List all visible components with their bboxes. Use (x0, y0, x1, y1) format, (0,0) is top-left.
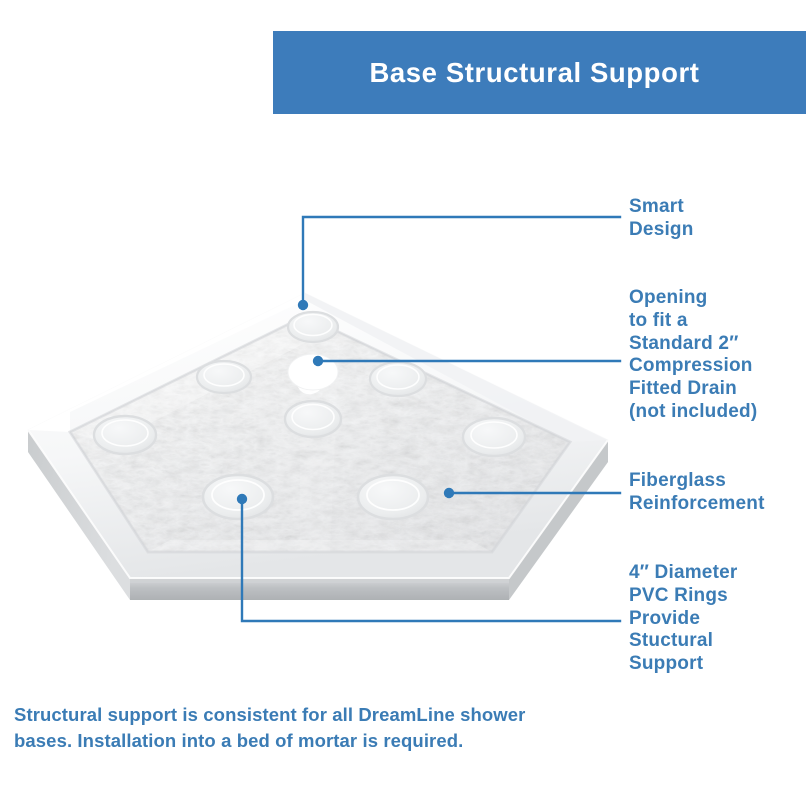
pvc-ring (370, 362, 426, 396)
pvc-ring-group (94, 312, 525, 519)
leader-dot-fiberglass (444, 488, 454, 498)
pvc-ring (94, 416, 156, 454)
callout-label-smart-design: Smart Design (629, 196, 694, 242)
header-banner: Base Structural Support (273, 31, 806, 114)
leader-dot-pvc-rings (237, 494, 247, 504)
leader-dot-drain-opening (313, 356, 323, 366)
pvc-ring (358, 475, 428, 519)
leader-line-smart-design (303, 217, 620, 305)
leader-line-pvc-rings (242, 499, 620, 621)
pvc-ring (288, 312, 338, 342)
page-title: Base Structural Support (369, 57, 699, 89)
leader-dot-smart-design (298, 300, 308, 310)
base-floor (60, 306, 580, 566)
pvc-ring (197, 361, 251, 393)
infographic-canvas: Base Structural Support Smart Design Ope… (0, 0, 806, 806)
pvc-ring (203, 475, 273, 519)
callout-label-pvc-rings: 4″ Diameter PVC Rings Provide Stuctural … (629, 562, 737, 676)
pvc-ring (463, 418, 525, 456)
footer-note: Structural support is consistent for all… (14, 702, 574, 755)
pvc-ring (285, 401, 341, 437)
base-top-rim (28, 293, 608, 578)
callout-label-fiberglass-reinforcement: Fiberglass Reinforcement (629, 470, 765, 516)
drain-opening (288, 354, 338, 394)
base-apron (28, 430, 608, 600)
callout-label-drain-opening: Opening to fit a Standard 2″ Compression… (629, 287, 757, 424)
